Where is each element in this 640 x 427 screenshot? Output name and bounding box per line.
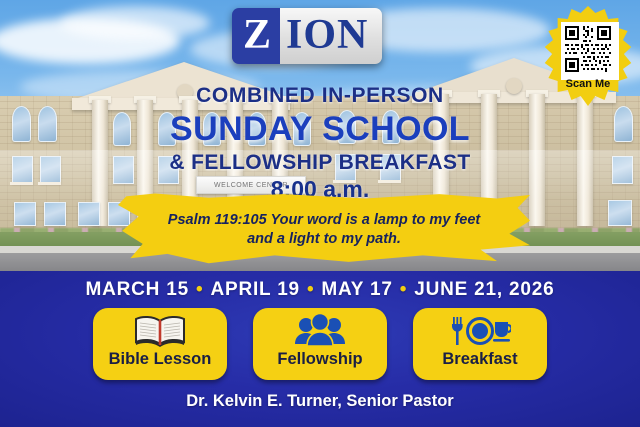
date-item: MARCH 15 <box>85 279 189 300</box>
window <box>44 202 66 226</box>
date-separator: • <box>400 279 407 301</box>
qr-code-icon[interactable] <box>561 22 619 80</box>
scripture-line-1: Psalm 119:105 Your word is a lamp to my … <box>168 211 480 230</box>
headline-sunday-school: SUNDAY SCHOOL <box>0 110 640 149</box>
date-item: JUNE 21, 2026 <box>414 279 554 300</box>
badge-bible-lesson[interactable]: Bible Lesson <box>93 308 227 380</box>
zion-logo: Z ION <box>232 8 382 64</box>
date-item: MAY 17 <box>321 279 392 300</box>
badge-label: Fellowship <box>277 350 362 369</box>
dates-row: MARCH 15•APRIL 19•MAY 17•JUNE 21, 2026 <box>0 279 640 301</box>
date-item: APRIL 19 <box>210 279 299 300</box>
date-separator: • <box>307 279 314 301</box>
scripture-verse: 119:105 Your word is a lamp to my feet <box>215 212 481 228</box>
flyer-canvas: WELCOME CENTER Z ION <box>0 0 640 427</box>
scripture-line-2: and a light to my path. <box>247 230 401 249</box>
fork-plate-cup-icon <box>449 313 511 349</box>
cloud-shape <box>60 6 210 40</box>
badge-label: Breakfast <box>442 350 517 369</box>
scan-me-label: Scan Me <box>542 78 634 90</box>
feature-badges: Bible Lesson Fellowship <box>0 308 640 384</box>
window <box>608 200 632 226</box>
qr-code-badge[interactable]: Scan Me <box>542 6 634 106</box>
open-bible-icon <box>132 313 188 349</box>
window <box>78 202 100 226</box>
badge-breakfast[interactable]: Breakfast <box>413 308 547 380</box>
date-separator: • <box>196 279 203 301</box>
pastor-name: Dr. Kelvin E. Turner, Senior Pastor <box>0 392 640 411</box>
logo-letters-ion: ION <box>280 8 382 64</box>
window <box>14 202 36 226</box>
logo-letter-z: Z <box>232 8 280 64</box>
badge-fellowship[interactable]: Fellowship <box>253 308 387 380</box>
badge-label: Bible Lesson <box>109 350 212 369</box>
people-group-icon <box>293 313 347 349</box>
scripture-banner-text: Psalm 119:105 Your word is a lamp to my … <box>118 200 530 260</box>
scripture-reference: Psalm <box>168 212 211 228</box>
headline-fellowship-breakfast: & FELLOWSHIP BREAKFAST <box>0 151 640 175</box>
